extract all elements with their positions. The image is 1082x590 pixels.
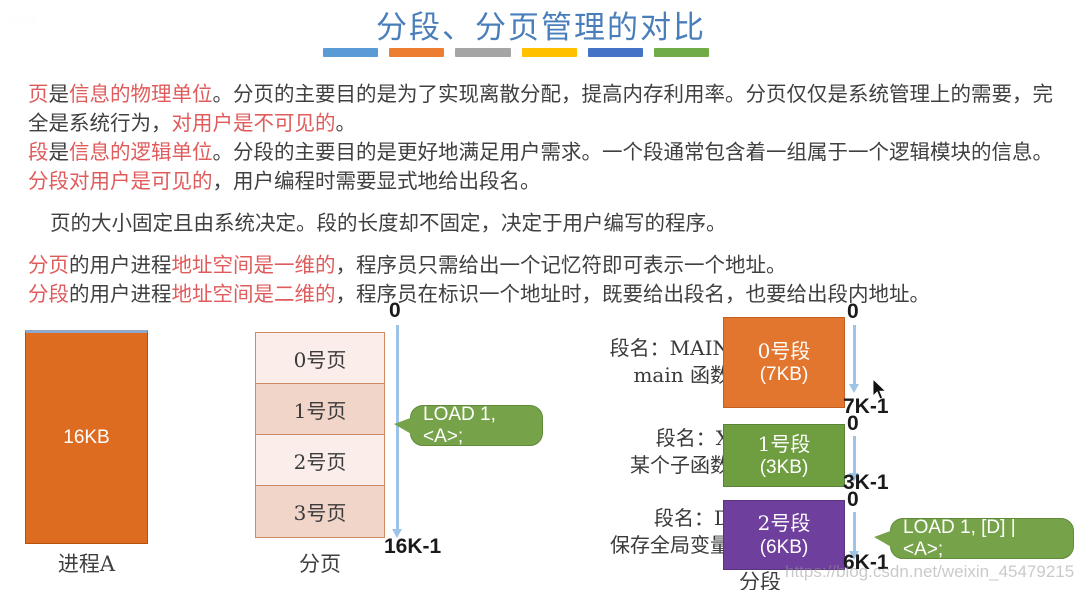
segment-1-label: 段名：X 某个子函数 (560, 425, 730, 479)
segment-0-addr-arrow (853, 325, 856, 385)
segment-1-block-name: 1号段 (758, 432, 811, 456)
segment-1-name: 段名：X (560, 425, 730, 452)
page-row: 0号页 (256, 333, 384, 384)
page-table-caption: 分页 (255, 548, 385, 578)
process-a-caption: 进程A (25, 548, 148, 578)
segment-0-desc: main 函数 (560, 362, 730, 389)
segment-2-label: 段名：D 保存全局变量 (548, 505, 730, 559)
segment-1-desc: 某个子函数 (560, 452, 730, 479)
segment-0-label: 段名：MAIN main 函数 (560, 335, 730, 389)
segment-1-block: 1号段 (3KB) (723, 424, 845, 487)
segment-1-addr-arrow (853, 436, 856, 474)
segment-0-block: 0号段 (7KB) (723, 317, 845, 408)
segment-2-desc: 保存全局变量 (548, 532, 730, 559)
segment-2-block-name: 2号段 (758, 511, 811, 535)
page-table: 0号页 1号页 2号页 3号页 (255, 332, 385, 538)
segment-2-block-size: (6KB) (760, 536, 809, 559)
segment-2-addr-top: 0 (847, 488, 859, 512)
segment-2-addr-arrow (853, 512, 856, 552)
segment-2-name: 段名：D (548, 505, 730, 532)
page-row: 3号页 (256, 486, 384, 537)
paging-address-top-label: 0 (389, 299, 401, 323)
segment-0-block-name: 0号段 (758, 339, 811, 363)
segment-2-block: 2号段 (6KB) (723, 500, 845, 570)
callout-load-d-a-text: LOAD 1, [D] | <A>; (903, 517, 1061, 561)
paging-address-bottom-label: 16K-1 (384, 535, 441, 559)
segment-0-addr-top: 0 (847, 300, 859, 324)
callout-tail-icon (874, 530, 893, 548)
callout-load-a: LOAD 1, <A>; (410, 405, 543, 446)
segmentation-caption: 分段 (700, 566, 820, 590)
process-a-block: 16KB (25, 330, 148, 544)
callout-load-d-a: LOAD 1, [D] | <A>; (890, 518, 1074, 559)
diagram-area: 16KB 进程A 0号页 1号页 2号页 3号页 分页 0 16K-1 LOAD… (0, 0, 1082, 590)
mouse-cursor-icon (872, 378, 888, 401)
segment-2-addr-bottom: 6K-1 (843, 551, 889, 575)
page-row: 2号页 (256, 435, 384, 486)
slide-canvas: 哔哩bilibili 分段、分页管理的对比 页是信息的物理单位。分页的主要目的是… (0, 0, 1082, 590)
callout-tail-icon (394, 417, 413, 435)
segment-1-block-size: (3KB) (760, 456, 809, 479)
callout-load-a-text: LOAD 1, <A>; (423, 404, 530, 448)
segment-0-block-size: (7KB) (760, 363, 809, 386)
segment-0-name: 段名：MAIN (560, 335, 730, 362)
page-row: 1号页 (256, 384, 384, 435)
segment-1-addr-top: 0 (847, 412, 859, 436)
